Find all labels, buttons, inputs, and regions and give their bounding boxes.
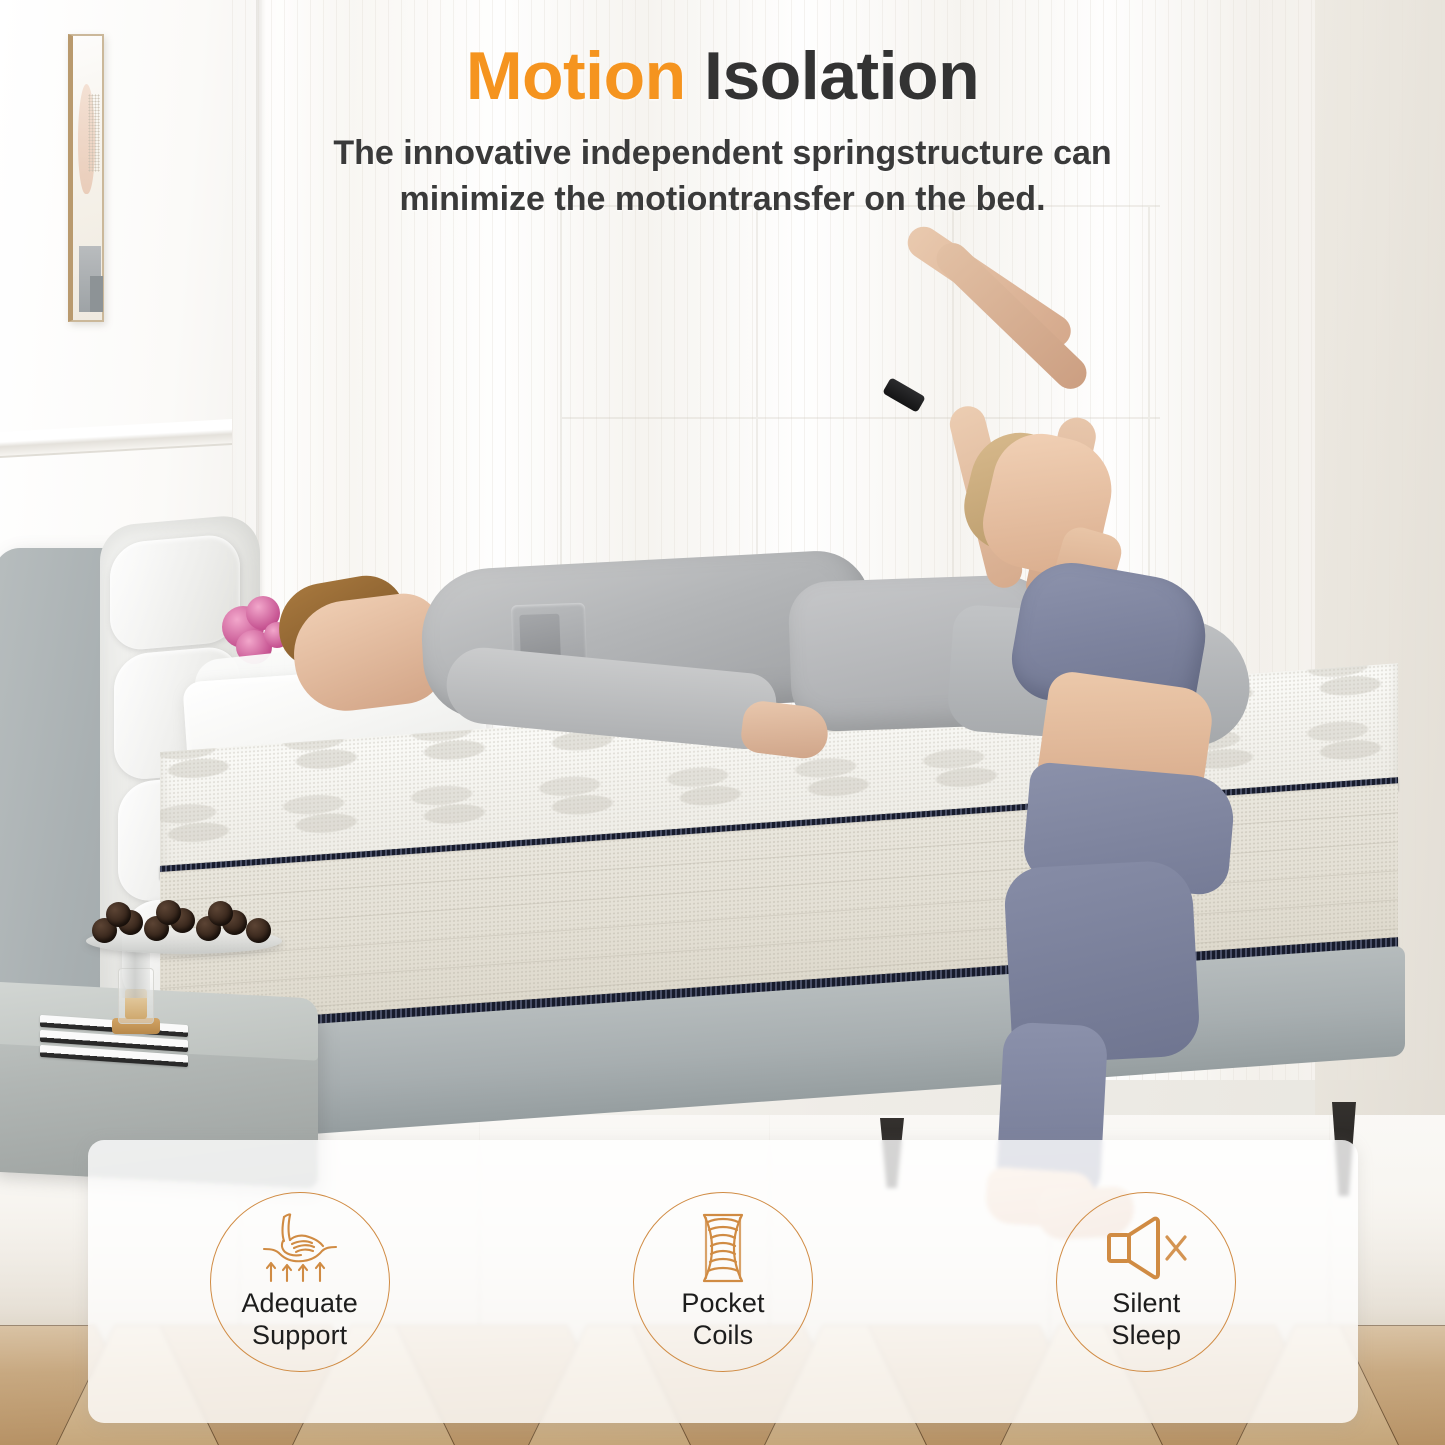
hand-support-arrows-icon (254, 1212, 346, 1284)
feature-adequate-support[interactable]: Adequate Support (88, 1192, 511, 1372)
feature-silent-sleep[interactable]: Silent Sleep (935, 1192, 1358, 1372)
feature-label: Adequate Support (241, 1288, 357, 1351)
pocket-coil-spring-icon (692, 1212, 754, 1284)
feature-label-line-1: Silent (1112, 1288, 1182, 1319)
feature-label-line-2: Support (241, 1320, 357, 1351)
feature-badge: Adequate Support (210, 1192, 390, 1372)
chocolate-tray (86, 900, 282, 954)
feature-pocket-coils[interactable]: Pocket Coils (511, 1192, 934, 1372)
muted-speaker-icon (1104, 1212, 1188, 1284)
page-subtitle: The innovative independent springstructu… (0, 130, 1445, 222)
tray-stem (120, 950, 150, 998)
subtitle-line-1: The innovative independent springstructu… (0, 130, 1445, 176)
feature-label-line-1: Pocket (681, 1288, 764, 1319)
feature-panel: Adequate Support (88, 1140, 1358, 1423)
header-block: Motion Isolation The innovative independ… (0, 0, 1445, 223)
product-image-stage: Motion Isolation The innovative independ… (0, 0, 1445, 1445)
page-title: Motion Isolation (0, 40, 1445, 112)
feature-label-line-2: Coils (681, 1320, 764, 1351)
title-rest: Isolation (686, 38, 979, 114)
feature-label: Pocket Coils (681, 1288, 764, 1351)
feature-badge: Silent Sleep (1056, 1192, 1236, 1372)
wall-art-grey-block-2 (90, 276, 103, 312)
feature-label: Silent Sleep (1112, 1288, 1182, 1351)
title-highlight: Motion (466, 38, 686, 114)
woman-stretching (930, 308, 1260, 1188)
subtitle-line-2: minimize the motiontransfer on the bed. (0, 176, 1445, 222)
feature-badge: Pocket Coils (633, 1192, 813, 1372)
feature-label-line-2: Sleep (1112, 1320, 1182, 1351)
feature-label-line-1: Adequate (241, 1288, 357, 1319)
